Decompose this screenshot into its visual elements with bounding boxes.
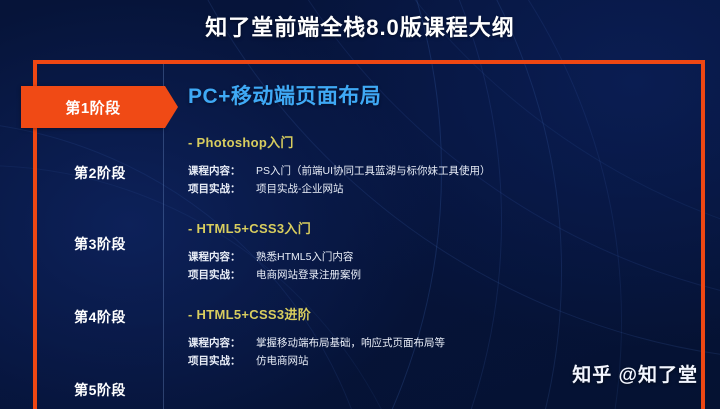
course-content-label: 课程内容： [188, 162, 246, 180]
stage-label: 第3阶段 [74, 234, 126, 254]
project-practice-label: 项目实战： [188, 352, 246, 370]
stage-label: 第1阶段 [65, 97, 120, 118]
stage-label: 第2阶段 [74, 163, 126, 183]
module-project-row: 项目实战： 电商网站登录注册案例 [188, 266, 688, 284]
module-course-row: 课程内容： 掌握移动端布局基础，响应式页面布局等 [188, 334, 688, 352]
content-heading: PC+移动端页面布局 [188, 80, 688, 110]
sidebar-item-stage-4[interactable]: 第4阶段 [37, 304, 163, 330]
project-practice-value: 电商网站登录注册案例 [256, 266, 361, 284]
course-content-value: 熟悉HTML5入门内容 [256, 248, 353, 266]
course-content-label: 课程内容： [188, 248, 246, 266]
module-title: - Photoshop入门 [188, 132, 688, 151]
slide-title-bar: 知了堂前端全栈8.0版课程大纲 [0, 0, 720, 52]
stage-label: 第4阶段 [74, 307, 126, 327]
course-content-label: 课程内容： [188, 334, 246, 352]
project-practice-value: 项目实战-企业网站 [256, 180, 344, 198]
stage-label: 第5阶段 [74, 380, 126, 400]
course-content-value: PS入门（前端UI协同工具蓝湖与标你妹工具使用） [256, 162, 491, 180]
sidebar-item-stage-5[interactable]: 第5阶段 [37, 377, 163, 403]
slide-canvas: 知了堂前端全栈8.0版课程大纲 第1阶段 第2阶段 第3阶段 第4阶段 第5阶段… [0, 0, 720, 409]
frame-border-right [701, 60, 705, 409]
course-module: - Photoshop入门 课程内容： PS入门（前端UI协同工具蓝湖与标你妹工… [188, 132, 688, 198]
module-course-row: 课程内容： 熟悉HTML5入门内容 [188, 248, 688, 266]
course-content-value: 掌握移动端布局基础，响应式页面布局等 [256, 334, 445, 352]
module-project-row: 项目实战： 项目实战-企业网站 [188, 180, 688, 198]
module-title: - HTML5+CSS3入门 [188, 218, 688, 237]
sidebar-item-stage-1[interactable]: 第1阶段 [21, 86, 165, 128]
project-practice-label: 项目实战： [188, 180, 246, 198]
module-title: - HTML5+CSS3进阶 [188, 304, 688, 323]
project-practice-label: 项目实战： [188, 266, 246, 284]
stage-content-panel: PC+移动端页面布局 - Photoshop入门 课程内容： PS入门（前端UI… [188, 80, 688, 390]
project-practice-value: 仿电商网站 [256, 352, 309, 370]
stage-rail: 第1阶段 第2阶段 第3阶段 第4阶段 第5阶段 [37, 64, 163, 409]
sidebar-item-stage-2[interactable]: 第2阶段 [37, 160, 163, 186]
watermark: 知乎 @知了堂 [572, 360, 698, 387]
page-title: 知了堂前端全栈8.0版课程大纲 [205, 10, 515, 42]
sidebar-item-stage-3[interactable]: 第3阶段 [37, 231, 163, 257]
module-course-row: 课程内容： PS入门（前端UI协同工具蓝湖与标你妹工具使用） [188, 162, 688, 180]
course-module: - HTML5+CSS3入门 课程内容： 熟悉HTML5入门内容 项目实战： 电… [188, 218, 688, 284]
